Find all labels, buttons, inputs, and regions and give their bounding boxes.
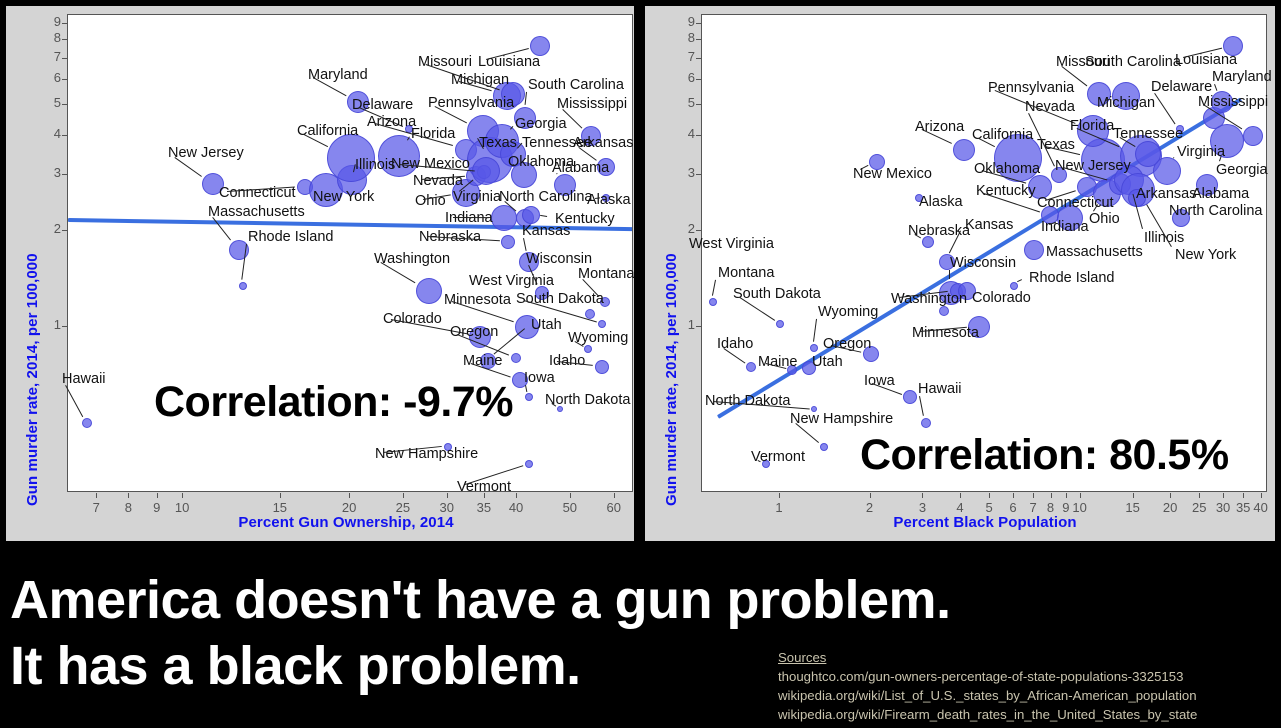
y-tick-label: 2 <box>671 221 695 236</box>
state-label: New Hampshire <box>790 412 893 427</box>
x-tick-label: 2 <box>855 500 885 515</box>
y-tick-mark <box>696 23 701 24</box>
x-tick-label: 10 <box>1065 500 1095 515</box>
x-tick-mark <box>1080 493 1081 498</box>
state-label: New Jersey <box>1055 159 1131 174</box>
state-label: Hawaii <box>62 372 106 387</box>
data-point-bubble <box>501 235 515 249</box>
data-point-bubble <box>776 320 784 328</box>
data-point-bubble <box>416 278 442 304</box>
state-label: Wisconsin <box>950 256 1016 271</box>
data-point-bubble <box>239 282 247 290</box>
x-tick-label: 40 <box>1246 500 1276 515</box>
state-label: Massachusetts <box>208 205 305 220</box>
state-label: Iowa <box>524 371 555 386</box>
y-tick-label: 1 <box>37 317 61 332</box>
x-axis-label-right: Percent Black Population <box>700 514 1270 531</box>
x-tick-mark <box>922 493 923 498</box>
y-tick-label: 8 <box>671 30 695 45</box>
headline-line-2: It has a black problem. <box>10 635 581 697</box>
x-axis-label-left: Percent Gun Ownership, 2014 <box>61 514 631 531</box>
y-tick-label: 2 <box>37 221 61 236</box>
data-point-bubble <box>472 157 500 185</box>
data-point-bubble <box>939 306 949 316</box>
state-label: Indiana <box>1041 220 1089 235</box>
state-label: Montana <box>578 267 634 282</box>
y-tick-label: 4 <box>37 126 61 141</box>
data-point-bubble <box>595 360 609 374</box>
x-tick-mark <box>182 493 183 498</box>
x-tick-label: 10 <box>167 500 197 515</box>
x-tick-mark <box>403 493 404 498</box>
data-point-bubble <box>82 418 92 428</box>
label-leader-line <box>453 217 489 218</box>
label-leader-line <box>949 270 950 279</box>
state-label: Indiana <box>445 211 493 226</box>
state-label: New York <box>313 190 374 205</box>
data-point-bubble <box>709 298 717 306</box>
state-label: Ohio <box>1089 212 1120 227</box>
x-tick-mark <box>1066 493 1067 498</box>
data-point-bubble <box>1243 126 1263 146</box>
state-label: Massachusetts <box>1046 245 1143 260</box>
state-label: North Carolina <box>499 190 593 205</box>
x-tick-mark <box>280 493 281 498</box>
state-label: Virginia <box>453 190 501 205</box>
y-tick-mark <box>62 79 67 80</box>
y-tick-mark <box>62 326 67 327</box>
x-tick-mark <box>516 493 517 498</box>
data-point-bubble <box>525 393 533 401</box>
y-tick-label: 6 <box>671 70 695 85</box>
source-link[interactable]: wikipedia.org/wiki/Firearm_death_rates_i… <box>778 705 1278 724</box>
source-link[interactable]: wikipedia.org/wiki/List_of_U.S._states_b… <box>778 686 1278 705</box>
state-label: Georgia <box>515 117 567 132</box>
state-label: Wyoming <box>818 305 878 320</box>
state-label: Utah <box>531 318 562 333</box>
state-label: Mississippi <box>557 97 627 112</box>
y-tick-label: 6 <box>37 70 61 85</box>
x-tick-mark <box>570 493 571 498</box>
state-label: Minnesota <box>444 293 511 308</box>
source-link[interactable]: thoughtco.com/gun-owners-percentage-of-s… <box>778 667 1278 686</box>
state-label: Idaho <box>717 337 753 352</box>
state-label: Rhode Island <box>248 230 333 245</box>
x-tick-mark <box>349 493 350 498</box>
x-tick-mark <box>614 493 615 498</box>
state-label: Rhode Island <box>1029 271 1114 286</box>
y-tick-label: 8 <box>37 30 61 45</box>
sources-title: Sources <box>778 648 1278 667</box>
state-label: Virginia <box>1177 145 1225 160</box>
y-tick-mark <box>62 58 67 59</box>
state-label: Montana <box>718 266 774 281</box>
state-label: Kansas <box>522 224 570 239</box>
x-tick-mark <box>96 493 97 498</box>
state-label: Florida <box>1070 119 1114 134</box>
state-label: Hawaii <box>918 382 962 397</box>
state-label: Louisiana <box>1175 53 1237 68</box>
y-tick-mark <box>62 23 67 24</box>
x-tick-label: 1 <box>764 500 794 515</box>
correlation-annotation: Correlation: 80.5% <box>860 431 1229 480</box>
y-tick-label: 7 <box>671 49 695 64</box>
correlation-annotation: Correlation: -9.7% <box>154 378 513 427</box>
state-label: Vermont <box>457 480 511 495</box>
y-tick-label: 9 <box>37 14 61 29</box>
state-label: Michigan <box>1097 96 1155 111</box>
y-tick-mark <box>62 135 67 136</box>
data-point-bubble <box>810 344 818 352</box>
x-tick-mark <box>1133 493 1134 498</box>
state-label: Arkansas <box>1136 187 1196 202</box>
chart-panel-gun-ownership: Gun murder rate, 2014, per 100,000 Perce… <box>6 6 634 541</box>
y-tick-mark <box>62 230 67 231</box>
x-tick-label: 8 <box>113 500 143 515</box>
y-tick-mark <box>696 79 701 80</box>
x-tick-label: 7 <box>81 500 111 515</box>
state-label: Oklahoma <box>508 155 574 170</box>
state-label: Wisconsin <box>526 252 592 267</box>
state-label: South Dakota <box>516 292 604 307</box>
y-tick-mark <box>62 174 67 175</box>
chart-panel-black-population: Gun murder rate, 2014, per 100,000 Perce… <box>645 6 1275 541</box>
state-label: South Carolina <box>528 78 624 93</box>
y-axis-label-left: Gun murder rate, 2014, per 100,000 <box>24 253 41 506</box>
y-tick-label: 1 <box>671 317 695 332</box>
state-label: West Virginia <box>469 274 554 289</box>
x-tick-label: 4 <box>945 500 975 515</box>
data-point-bubble <box>584 345 592 353</box>
y-tick-mark <box>696 230 701 231</box>
x-tick-mark <box>1013 493 1014 498</box>
x-tick-mark <box>1261 493 1262 498</box>
x-tick-label: 3 <box>907 500 937 515</box>
x-tick-mark <box>779 493 780 498</box>
x-tick-mark <box>1243 493 1244 498</box>
y-tick-mark <box>696 326 701 327</box>
state-label: New Jersey <box>168 146 244 161</box>
state-label: North Dakota <box>545 393 630 408</box>
state-label: Georgia <box>1216 163 1268 178</box>
state-label: Oregon <box>450 325 498 340</box>
data-point-bubble <box>585 309 595 319</box>
y-tick-mark <box>62 104 67 105</box>
state-label: Vermont <box>751 450 805 465</box>
state-label: New York <box>1175 248 1236 263</box>
state-label: West Virginia <box>689 237 774 252</box>
x-tick-mark <box>157 493 158 498</box>
x-tick-label: 20 <box>334 500 364 515</box>
state-label: Alaska <box>919 195 963 210</box>
state-label: Missouri <box>418 55 472 70</box>
data-point-bubble <box>921 418 931 428</box>
data-point-bubble <box>820 443 828 451</box>
y-tick-mark <box>696 104 701 105</box>
y-tick-mark <box>696 58 701 59</box>
x-tick-mark <box>870 493 871 498</box>
y-tick-label: 4 <box>671 126 695 141</box>
data-point-bubble <box>1024 240 1044 260</box>
state-label: Louisiana <box>478 55 540 70</box>
state-label: North Carolina <box>1169 204 1263 219</box>
y-tick-label: 3 <box>671 165 695 180</box>
x-tick-mark <box>1170 493 1171 498</box>
state-label: Oklahoma <box>974 162 1040 177</box>
x-tick-label: 15 <box>1118 500 1148 515</box>
x-tick-label: 35 <box>469 500 499 515</box>
x-tick-mark <box>1223 493 1224 498</box>
y-tick-label: 5 <box>37 95 61 110</box>
x-tick-label: 30 <box>432 500 462 515</box>
x-tick-mark <box>447 493 448 498</box>
state-label: New Hampshire <box>375 447 478 462</box>
x-tick-mark <box>960 493 961 498</box>
headline-line-1: America doesn't have a gun problem. <box>10 569 951 631</box>
state-label: Kansas <box>965 218 1013 233</box>
y-tick-mark <box>696 135 701 136</box>
state-label: Delaware <box>352 98 413 113</box>
state-label: New Mexico <box>853 167 932 182</box>
x-tick-mark <box>1033 493 1034 498</box>
data-point-bubble <box>522 206 540 224</box>
y-tick-mark <box>696 174 701 175</box>
x-tick-label: 50 <box>555 500 585 515</box>
data-point-bubble <box>746 362 756 372</box>
x-tick-label: 25 <box>388 500 418 515</box>
y-tick-label: 3 <box>37 165 61 180</box>
state-label: Arizona <box>915 120 964 135</box>
state-label: South Dakota <box>733 287 821 302</box>
data-point-bubble <box>903 390 917 404</box>
data-point-bubble <box>511 353 521 363</box>
state-label: Delaware <box>1151 80 1212 95</box>
x-tick-label: 20 <box>1155 500 1185 515</box>
x-tick-mark <box>1051 493 1052 498</box>
x-tick-mark <box>1199 493 1200 498</box>
state-label: Illinois <box>355 158 395 173</box>
state-label: Maryland <box>1212 70 1272 85</box>
state-label: Kentucky <box>976 184 1036 199</box>
x-tick-label: 40 <box>501 500 531 515</box>
meme-image: Gun murder rate, 2014, per 100,000 Perce… <box>0 0 1281 728</box>
state-label: Texas <box>479 136 517 151</box>
x-tick-mark <box>128 493 129 498</box>
y-tick-label: 5 <box>671 95 695 110</box>
state-label: Alaska <box>587 193 631 208</box>
x-tick-label: 60 <box>599 500 629 515</box>
y-tick-mark <box>696 39 701 40</box>
data-point-bubble <box>1010 282 1018 290</box>
state-label: Colorado <box>972 291 1031 306</box>
y-tick-label: 9 <box>671 14 695 29</box>
x-tick-mark <box>989 493 990 498</box>
y-axis-label-right: Gun murder rate, 2014, per 100,000 <box>663 253 680 506</box>
data-point-bubble <box>598 320 606 328</box>
y-tick-label: 7 <box>37 49 61 64</box>
state-label: Utah <box>812 355 843 370</box>
sources-block: Sources thoughtco.com/gun-owners-percent… <box>778 648 1278 724</box>
state-label: South Carolina <box>1085 55 1181 70</box>
state-label: Alabama <box>1192 187 1249 202</box>
y-tick-mark <box>62 39 67 40</box>
state-label: Maine <box>758 355 798 370</box>
x-tick-label: 15 <box>265 500 295 515</box>
data-point-bubble <box>525 460 533 468</box>
